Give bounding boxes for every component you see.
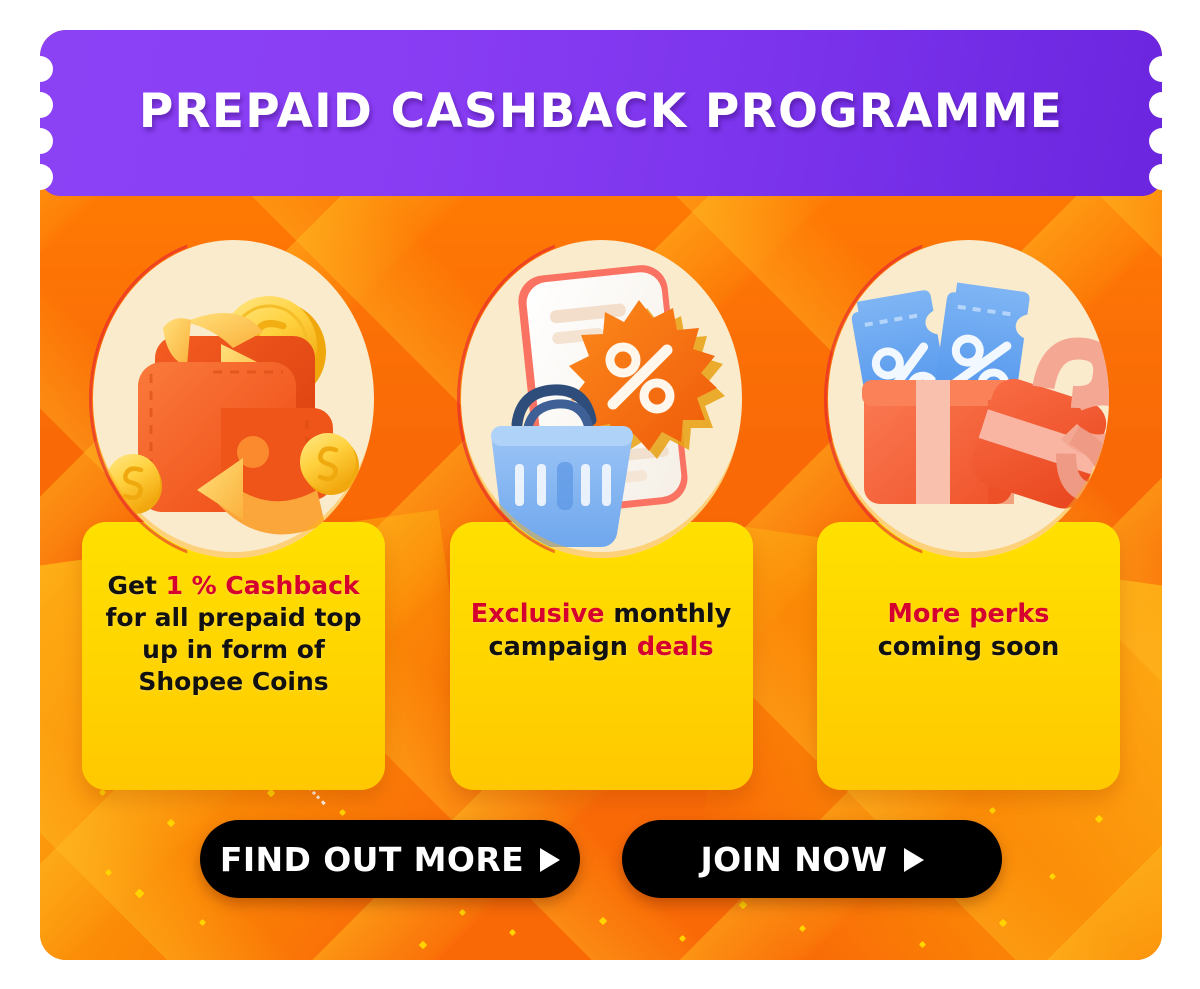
- card-text-line: More perks: [833, 598, 1104, 631]
- play-triangle-icon: [540, 848, 560, 872]
- card-text-line: coming soon: [833, 631, 1104, 664]
- highlighted-text: Exclusive: [471, 599, 605, 629]
- plain-text: for all prepaid top: [106, 603, 362, 632]
- card-text-line: up in form of: [98, 634, 369, 666]
- card-text-line: Shopee Coins: [98, 666, 369, 698]
- plain-text: Get: [107, 571, 165, 600]
- card-text-line: campaign deals: [466, 631, 737, 664]
- join-now-label: JOIN NOW: [701, 840, 888, 879]
- banner-panel: PREPAID CASHBACK PROGRAMME: [40, 30, 1162, 960]
- card-illustration-receipt: [461, 240, 742, 558]
- card-illustration-gift: [828, 240, 1109, 558]
- highlighted-text: 1 % Cashback: [166, 571, 360, 600]
- card-text-line: for all prepaid top: [98, 602, 369, 634]
- card-illustration-wallet: [93, 240, 374, 558]
- plain-text: coming soon: [878, 632, 1060, 662]
- find-out-more-label: FIND OUT MORE: [220, 840, 524, 879]
- card-text: Get 1 % Cashbackfor all prepaid topup in…: [82, 570, 385, 698]
- plain-text: up in form of: [142, 635, 325, 664]
- plain-text: campaign: [488, 632, 636, 662]
- card-text: More perkscoming soon: [817, 598, 1120, 663]
- highlighted-text: More perks: [888, 599, 1050, 629]
- promo-banner: PREPAID CASHBACK PROGRAMME: [0, 0, 1200, 989]
- plain-text: monthly: [604, 599, 731, 629]
- feature-cards: Get 1 % Cashbackfor all prepaid topup in…: [40, 196, 1162, 240]
- card-text-line: Exclusive monthly: [466, 598, 737, 631]
- play-triangle-icon: [904, 848, 924, 872]
- highlighted-text: deals: [637, 632, 714, 662]
- banner-header: PREPAID CASHBACK PROGRAMME: [40, 30, 1162, 196]
- plain-text: Shopee Coins: [138, 667, 328, 696]
- find-out-more-button[interactable]: FIND OUT MORE: [200, 820, 580, 898]
- page-title: PREPAID CASHBACK PROGRAMME: [40, 30, 1162, 196]
- card-text: Exclusive monthlycampaign deals: [450, 598, 753, 663]
- cta-button-group: FIND OUT MORE JOIN NOW: [40, 820, 1162, 898]
- join-now-button[interactable]: JOIN NOW: [622, 820, 1002, 898]
- card-text-line: Get 1 % Cashback: [98, 570, 369, 602]
